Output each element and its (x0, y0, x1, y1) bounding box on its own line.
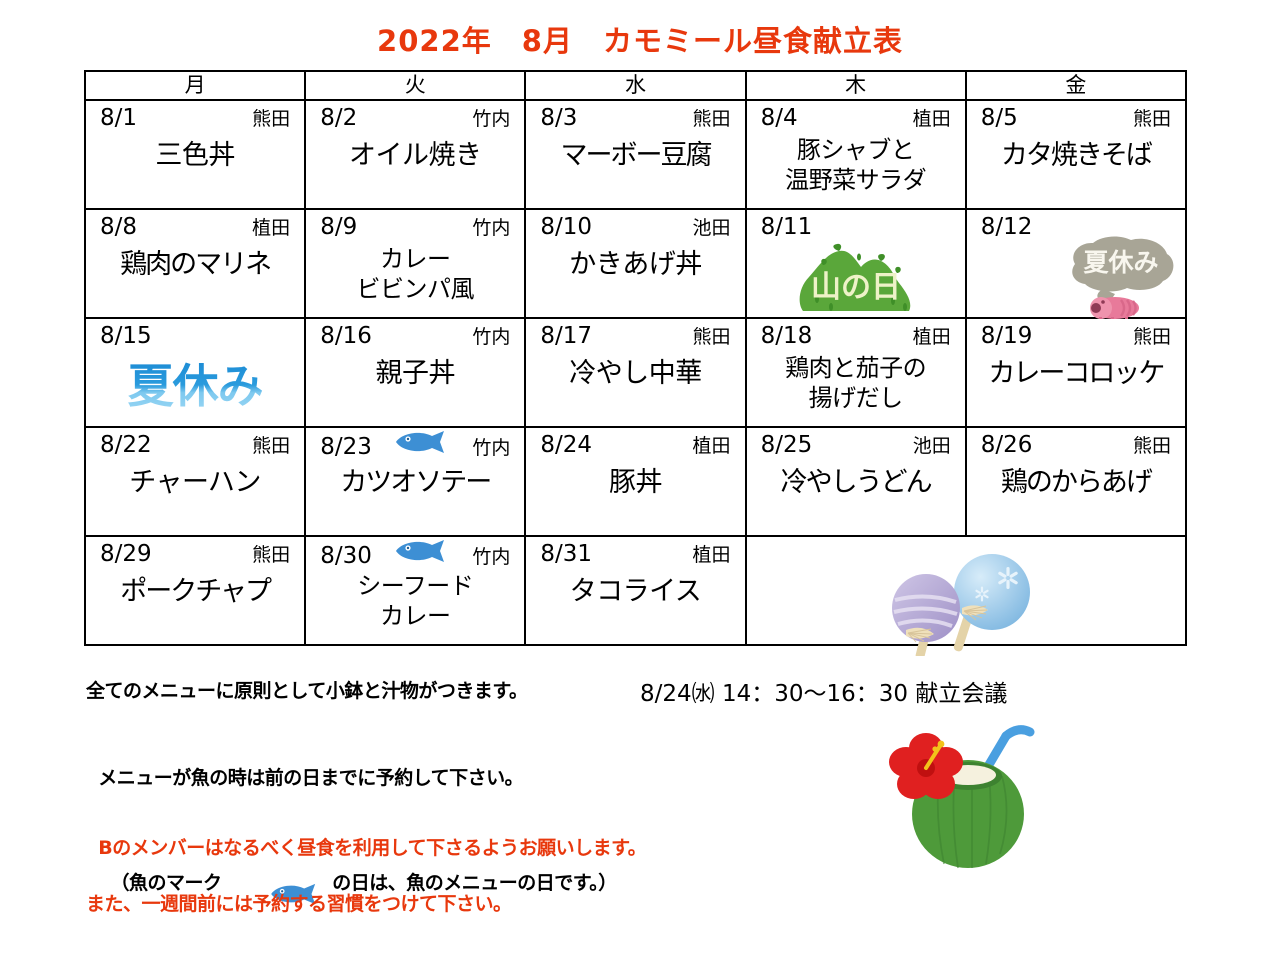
day-cell-head: 8/1 熊田 (86, 101, 304, 133)
day-cell[interactable]: 8/16 竹内 親子丼 (305, 318, 525, 427)
day-menu: ポークチャプ (86, 569, 304, 608)
weekday-header-thu: 木 (746, 71, 966, 100)
day-menu: 三色丼 (86, 133, 304, 172)
day-date: 8/11 (761, 212, 813, 242)
day-menu: カツオソテー (306, 460, 524, 499)
week-row: 8/1 熊田 三色丼 8/2 竹内 オイル焼き 8/3 熊田 マーボー豆腐 (85, 100, 1186, 209)
day-cell-head: 8/9 竹内 (306, 210, 524, 242)
day-cell-head: 8/23 竹内 (306, 428, 524, 460)
weekday-header-row: 月 火 水 木 金 (85, 71, 1186, 100)
mountain-day-label: 山の日 (811, 270, 901, 305)
day-cell-head: 8/19 熊田 (967, 319, 1185, 351)
note-fish-line1: メニューが魚の時は前の日までに予約して下さい。 (98, 767, 523, 789)
summer-holiday-label: 夏休み (128, 358, 263, 414)
day-date: 8/29 (100, 539, 152, 569)
day-cell[interactable]: 8/19 熊田 カレーコロッケ (966, 318, 1186, 427)
day-date: 8/3 (540, 103, 577, 133)
day-date: 8/26 (981, 430, 1033, 460)
day-cell-head: 8/5 熊田 (967, 101, 1185, 133)
day-cell-head: 8/31 植田 (526, 537, 744, 569)
day-cell-holiday[interactable]: 8/15 夏休み (85, 318, 305, 427)
day-staff: 竹内 (472, 104, 510, 134)
day-cell-head: 8/2 竹内 (306, 101, 524, 133)
day-date: 8/19 (981, 321, 1033, 351)
day-cell-head: 8/4 植田 (747, 101, 965, 133)
day-cell[interactable]: 8/22 熊田 チャーハン (85, 427, 305, 536)
day-staff: 池田 (913, 431, 951, 461)
day-menu: 冷やしうどん (747, 460, 965, 499)
day-staff: 熊田 (252, 104, 290, 134)
day-cell-head: 8/30 竹内 (306, 537, 524, 569)
day-date: 8/16 (320, 321, 372, 351)
week-row: 8/15 夏休み 8/16 竹内 親子丼 8/17 熊田 冷やし (85, 318, 1186, 427)
day-staff: 植田 (693, 540, 731, 570)
day-date: 8/4 (761, 103, 798, 133)
day-cell-head: 8/15 (86, 319, 304, 351)
day-date: 8/23 (320, 432, 372, 462)
day-staff: 熊田 (1133, 104, 1171, 134)
mountain-icon: 山の日 (793, 241, 919, 313)
day-cell[interactable]: 8/30 竹内 シーフード カレー (305, 536, 525, 645)
day-staff: 竹内 (472, 542, 510, 572)
day-cell-head: 8/3 熊田 (526, 101, 744, 133)
page-title: 2022年 8月 カモミール昼食献立表 (0, 18, 1280, 60)
day-date: 8/17 (540, 321, 592, 351)
day-cell-holiday[interactable]: 8/11 山の日 (746, 209, 966, 318)
day-date: 8/1 (100, 103, 137, 133)
day-staff: 熊田 (252, 540, 290, 570)
note-meeting: 8/24㈬ 14：30〜16：30 献立会議 (640, 674, 1007, 708)
mountain-day-art: 山の日 (747, 236, 965, 317)
day-date: 8/24 (540, 430, 592, 460)
day-date: 8/12 (981, 212, 1033, 242)
day-date: 8/10 (540, 212, 592, 242)
day-date: 8/5 (981, 103, 1018, 133)
day-staff: 熊田 (1133, 322, 1171, 352)
day-cell-head: 8/8 植田 (86, 210, 304, 242)
day-cell[interactable]: 8/23 竹内 カツオソテー (305, 427, 525, 536)
day-cell-head: 8/10 池田 (526, 210, 744, 242)
day-date: 8/18 (761, 321, 813, 351)
day-menu: タコライス (526, 569, 744, 608)
weekday-header-tue: 火 (305, 71, 525, 100)
smoke-cloud-icon: 夏休み (1059, 234, 1179, 320)
day-cell-head: 8/22 熊田 (86, 428, 304, 460)
day-staff: 池田 (693, 213, 731, 243)
day-menu: 鶏肉と茄子の 揚げだし (747, 351, 965, 413)
day-menu: オイル焼き (306, 133, 524, 172)
day-cell-head: 8/29 熊田 (86, 537, 304, 569)
day-date: 8/15 (100, 321, 152, 351)
day-cell[interactable]: 8/25 池田 冷やしうどん (746, 427, 966, 536)
note-red-line2: また、一週間前には予約する習慣をつけて下さい。 (86, 890, 646, 918)
day-date: 8/8 (100, 212, 137, 242)
day-date: 8/30 (320, 541, 372, 571)
day-staff: 竹内 (472, 213, 510, 243)
day-staff: 竹内 (472, 433, 510, 463)
day-menu: 鶏肉のマリネ (86, 242, 304, 281)
day-menu: 豚シャブと 温野菜サラダ (747, 133, 965, 195)
day-cell[interactable]: 8/10 池田 かきあげ丼 (525, 209, 745, 318)
day-date: 8/25 (761, 430, 813, 460)
coconut-drink-art (878, 718, 1058, 882)
summer-holiday-blue-art: 夏休み (86, 345, 304, 426)
day-cell[interactable]: 8/8 植田 鶏肉のマリネ (85, 209, 305, 318)
day-date: 8/31 (540, 539, 592, 569)
day-staff: 植田 (913, 104, 951, 134)
day-date: 8/2 (320, 103, 357, 133)
day-staff: 竹内 (472, 322, 510, 352)
day-cell[interactable]: 8/24 植田 豚丼 (525, 427, 745, 536)
day-staff: 植田 (252, 213, 290, 243)
coconut-drink-icon (878, 718, 1058, 878)
day-menu: 鶏のからあげ (967, 460, 1185, 499)
day-cell[interactable]: 8/3 熊田 マーボー豆腐 (525, 100, 745, 209)
day-menu: 冷やし中華 (526, 351, 744, 390)
day-cell[interactable]: 8/1 熊田 三色丼 (85, 100, 305, 209)
note-red-line1: Bのメンバーはなるべく昼食を利用して下さるようお願いします。 (98, 837, 646, 859)
day-cell-head: 8/25 池田 (747, 428, 965, 460)
day-cell-head: 8/18 植田 (747, 319, 965, 351)
day-cell-holiday[interactable]: 8/12 夏休み (966, 209, 1186, 318)
day-staff: 熊田 (693, 322, 731, 352)
note-member-request: Bのメンバーはなるべく昼食を利用して下さるようお願いします。 また、一週間前には… (86, 806, 646, 946)
day-staff: 植田 (693, 431, 731, 461)
day-cell[interactable]: 8/17 熊田 冷やし中華 (525, 318, 745, 427)
weekday-header-mon: 月 (85, 71, 305, 100)
uchiwa-fan-icon (876, 552, 1056, 656)
menu-calendar: 月 火 水 木 金 8/1 熊田 三色丼 8/2 竹内 オイル焼き (84, 70, 1187, 646)
day-menu: シーフード カレー (306, 569, 524, 631)
day-staff: 熊田 (252, 431, 290, 461)
week-row: 8/29 熊田 ポークチャプ 8/30 竹内 (85, 536, 1186, 645)
day-staff: 熊田 (1133, 431, 1171, 461)
day-menu: マーボー豆腐 (526, 133, 744, 172)
summer-holiday-label: 夏休み (1083, 248, 1158, 277)
day-cell[interactable]: 8/9 竹内 カレー ビビンパ風 (305, 209, 525, 318)
day-cell[interactable]: 8/4 植田 豚シャブと 温野菜サラダ (746, 100, 966, 209)
day-menu: 豚丼 (526, 460, 744, 499)
fish-mark-icon (394, 430, 450, 462)
day-date: 8/9 (320, 212, 357, 242)
summer-holiday-cloud-art: 夏休み (967, 236, 1185, 317)
day-cell-head: 8/24 植田 (526, 428, 744, 460)
day-cell-head: 8/11 (747, 210, 965, 242)
weekday-header-wed: 水 (525, 71, 745, 100)
day-cell[interactable]: 8/26 熊田 鶏のからあげ (966, 427, 1186, 536)
day-cell[interactable]: 8/5 熊田 カタ焼きそば (966, 100, 1186, 209)
day-cell-head: 8/26 熊田 (967, 428, 1185, 460)
uchiwa-fans-art (747, 563, 1185, 644)
day-cell-head: 8/16 竹内 (306, 319, 524, 351)
day-menu: カレー ビビンパ風 (306, 242, 524, 304)
day-menu: カタ焼きそば (967, 133, 1185, 172)
note-small-dish: 全てのメニューに原則として小鉢と汁物がつきます。 (86, 676, 528, 703)
day-menu: チャーハン (86, 460, 304, 499)
week-row: 8/8 植田 鶏肉のマリネ 8/9 竹内 カレー ビビンパ風 8/10 池田 か… (85, 209, 1186, 318)
day-staff: 熊田 (693, 104, 731, 134)
day-cell-head: 8/12 (967, 210, 1185, 242)
day-menu: 親子丼 (306, 351, 524, 390)
day-cell-empty (746, 536, 1186, 645)
day-staff: 植田 (913, 322, 951, 352)
day-cell[interactable]: 8/31 植田 タコライス (525, 536, 745, 645)
day-cell[interactable]: 8/2 竹内 オイル焼き (305, 100, 525, 209)
day-menu: カレーコロッケ (967, 351, 1185, 390)
weekday-header-fri: 金 (966, 71, 1186, 100)
day-cell[interactable]: 8/29 熊田 ポークチャプ (85, 536, 305, 645)
day-menu: かきあげ丼 (526, 242, 744, 281)
day-date: 8/22 (100, 430, 152, 460)
day-cell-head: 8/17 熊田 (526, 319, 744, 351)
week-row: 8/22 熊田 チャーハン 8/23 竹内 (85, 427, 1186, 536)
day-cell[interactable]: 8/18 植田 鶏肉と茄子の 揚げだし (746, 318, 966, 427)
fish-mark-icon (394, 539, 450, 571)
